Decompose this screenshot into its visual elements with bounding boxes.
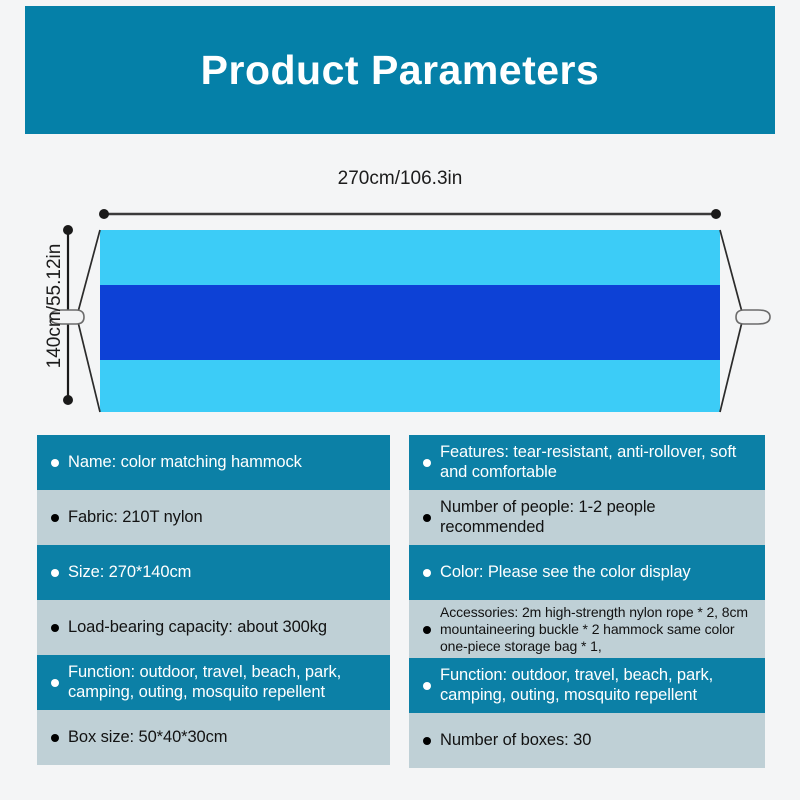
spec-row-text: Fabric: 210T nylon: [68, 508, 380, 527]
spec-row: Size: 270*140cm: [37, 545, 390, 600]
bullet-icon: [51, 569, 59, 577]
spec-table-left: Name: color matching hammockFabric: 210T…: [37, 435, 390, 765]
spec-row: Features: tear-resistant, anti-rollover,…: [409, 435, 765, 490]
bullet-icon: [423, 682, 431, 690]
spec-row-text: Size: 270*140cm: [68, 563, 380, 582]
spec-row-text: Box size: 50*40*30cm: [68, 728, 380, 747]
spec-row: Color: Please see the color display: [409, 545, 765, 600]
bullet-icon: [423, 459, 431, 467]
spec-row: Name: color matching hammock: [37, 435, 390, 490]
spec-row-text: Function: outdoor, travel, beach, park, …: [440, 666, 755, 705]
bullet-icon: [423, 514, 431, 522]
hammock-fabric: [100, 230, 720, 412]
spec-row-text: Accessories: 2m high-strength nylon rope…: [440, 604, 755, 654]
page-title: Product Parameters: [201, 50, 600, 91]
bullet-icon: [51, 679, 59, 687]
right-hanging-loop-icon: [736, 310, 770, 324]
spec-row: Number of people: 1-2 people recommended: [409, 490, 765, 545]
header-banner: Product Parameters: [25, 6, 775, 134]
spec-row: Fabric: 210T nylon: [37, 490, 390, 545]
product-diagram: 270cm/106.3in 140cm/55.12in: [0, 140, 800, 430]
spec-row-text: Name: color matching hammock: [68, 453, 380, 472]
bullet-icon: [423, 737, 431, 745]
spec-row-text: Load-bearing capacity: about 300kg: [68, 618, 380, 637]
bullet-icon: [51, 734, 59, 742]
spec-row-text: Color: Please see the color display: [440, 563, 755, 582]
spec-row-text: Features: tear-resistant, anti-rollover,…: [440, 443, 755, 482]
width-dimension-line: [99, 209, 721, 219]
bullet-icon: [51, 624, 59, 632]
bullet-icon: [423, 569, 431, 577]
width-dimension-label: 270cm/106.3in: [0, 168, 800, 190]
spec-row: Load-bearing capacity: about 300kg: [37, 600, 390, 655]
spec-row: Box size: 50*40*30cm: [37, 710, 390, 765]
spec-row-text: Number of boxes: 30: [440, 731, 755, 750]
spec-row-text: Number of people: 1-2 people recommended: [440, 498, 755, 537]
bullet-icon: [423, 626, 431, 634]
spec-row: Function: outdoor, travel, beach, park, …: [37, 655, 390, 710]
spec-row: Function: outdoor, travel, beach, park, …: [409, 658, 765, 713]
spec-table-right: Features: tear-resistant, anti-rollover,…: [409, 435, 765, 768]
spec-row: Number of boxes: 30: [409, 713, 765, 768]
bullet-icon: [51, 514, 59, 522]
spec-row-text: Function: outdoor, travel, beach, park, …: [68, 663, 380, 702]
bullet-icon: [51, 459, 59, 467]
height-dimension-label: 140cm/55.12in: [44, 211, 66, 401]
spec-row: Accessories: 2m high-strength nylon rope…: [409, 600, 765, 658]
